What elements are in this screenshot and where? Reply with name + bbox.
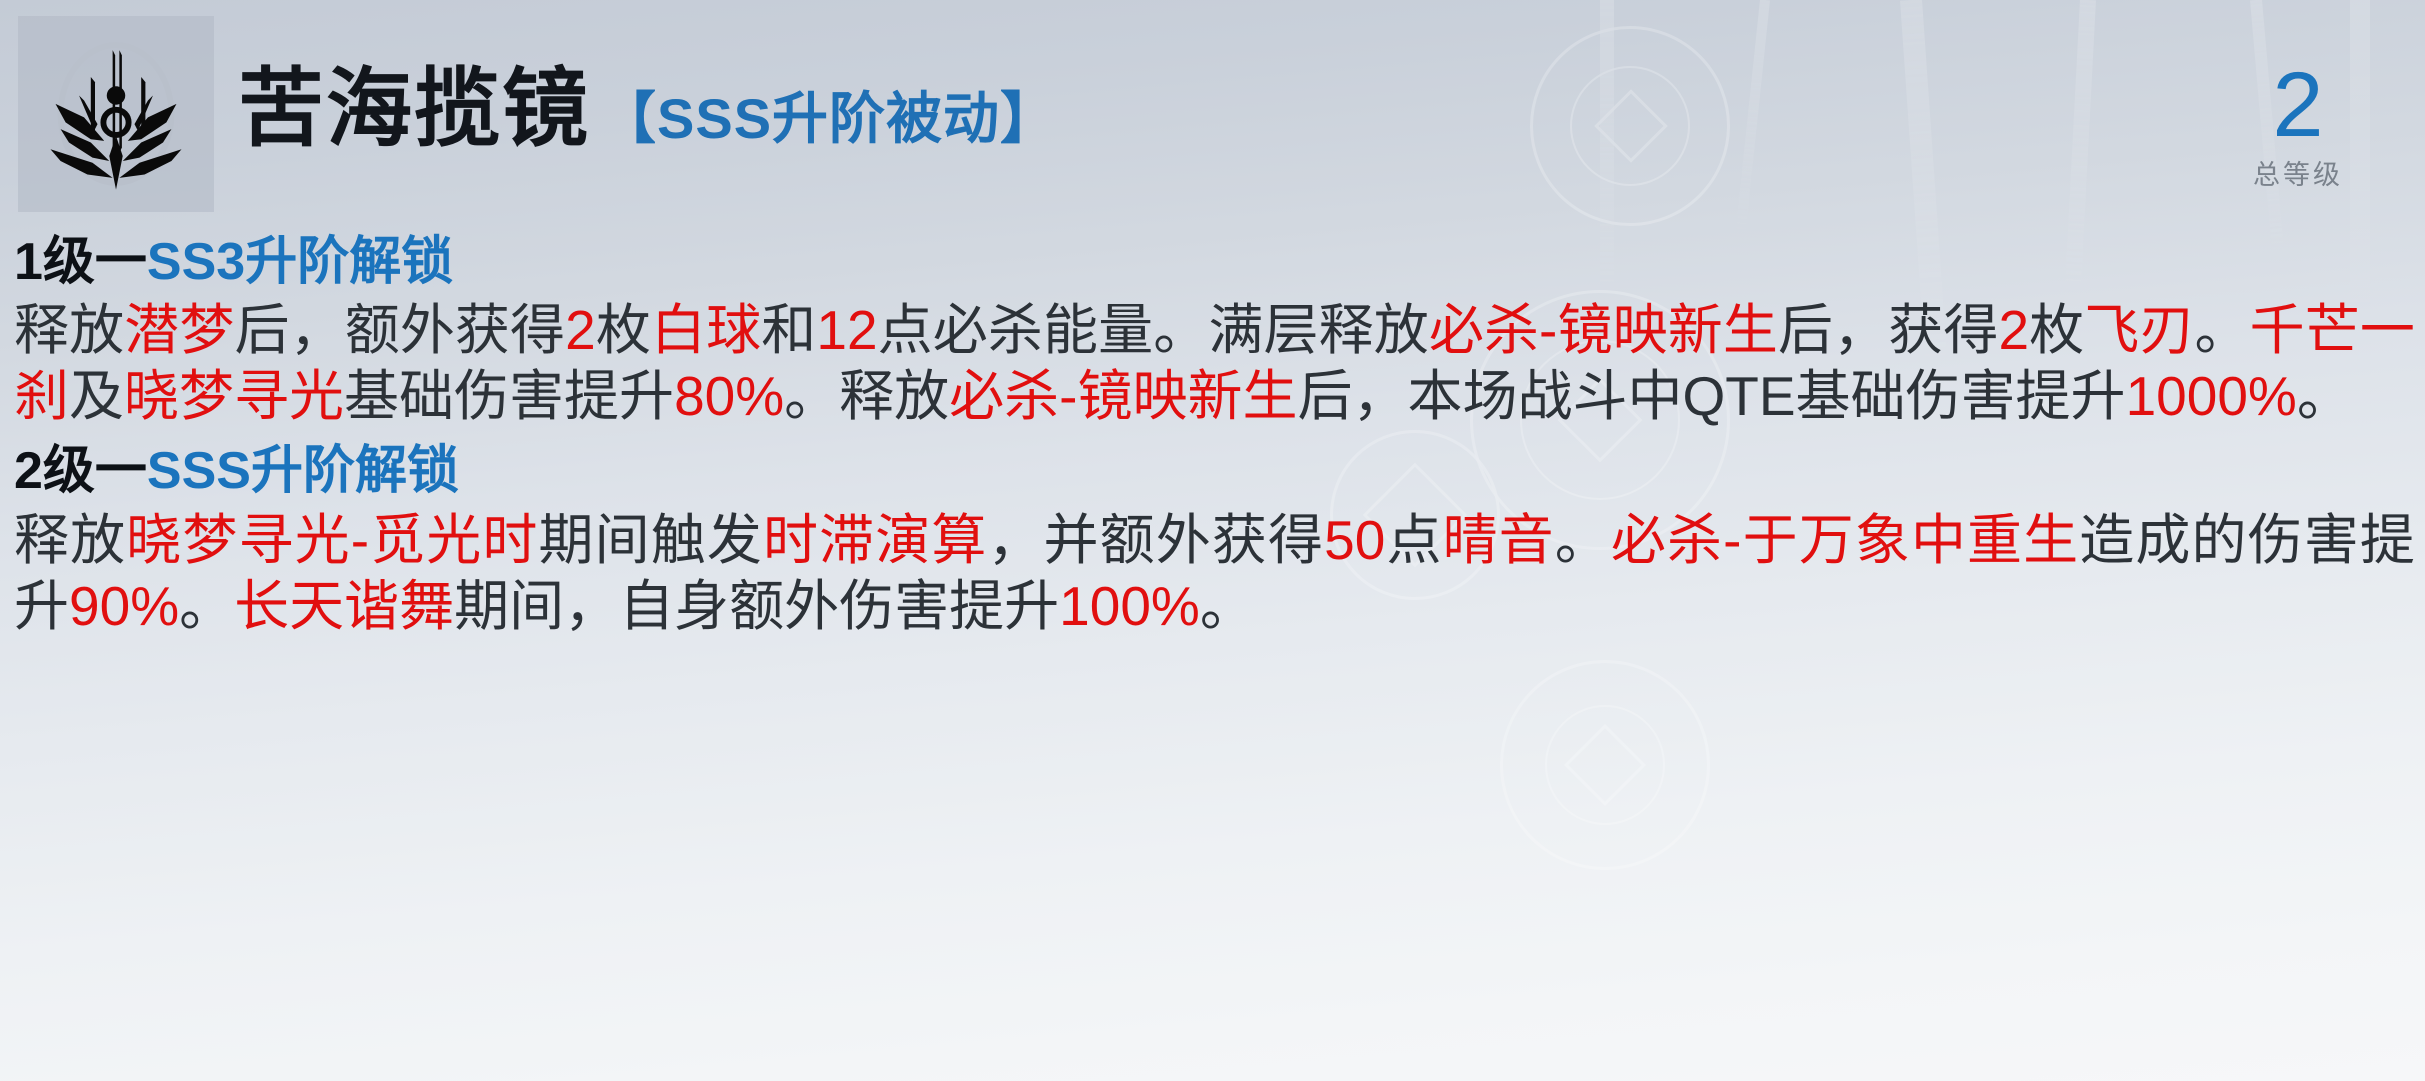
skill-detail-panel: 苦海揽镜 【SSS升阶被动】 2 总等级 1级一SS3升阶解锁 释放潜梦后，额外… (0, 0, 2425, 1081)
skill-subtitle-tag: 【SSS升阶被动】 (600, 91, 1057, 147)
highlight-term: 潜梦 (124, 299, 234, 361)
body-text: 后，额外获得 (234, 299, 565, 361)
body-text: 点 (1385, 509, 1442, 571)
skill-description-content: 1级一SS3升阶解锁 释放潜梦后，额外获得2枚白球和12点必杀能量。满层释放必杀… (14, 232, 2415, 639)
body-text: 释放 (14, 509, 126, 571)
highlight-term: 必杀-镜映新生 (1429, 299, 1778, 361)
body-text: 期间，自身额外伤害提升 (454, 575, 1059, 637)
section-2-body: 释放晓梦寻光-觅光时期间触发时滞演算，并额外获得50点晴音。必杀-于万象中重生造… (14, 507, 2415, 639)
highlight-term: 白球 (651, 299, 761, 361)
highlight-term: 90% (69, 575, 179, 637)
total-level-block: 2 总等级 (2203, 62, 2393, 192)
highlight-term: 1000% (2126, 365, 2297, 427)
body-text: 和 (761, 299, 816, 361)
highlight-term: 50 (1324, 509, 1385, 571)
highlight-term: 晓梦寻光-觅光时 (126, 509, 538, 571)
body-text: 基础伤害提升 (344, 365, 674, 427)
highlight-term: 2 (1998, 299, 2029, 361)
skill-title: 苦海揽镜 (238, 66, 590, 152)
highlight-term: 12 (816, 299, 877, 361)
highlight-term: 飞刃 (2084, 299, 2194, 361)
body-text: ，并额外获得 (987, 509, 1324, 571)
body-text: 后，本场战斗中QTE基础伤害提升 (1298, 365, 2126, 427)
highlight-term: 晴音 (1443, 509, 1555, 571)
body-text: 后，获得 (1778, 299, 1998, 361)
body-text: 枚 (596, 299, 651, 361)
body-text: 及 (69, 365, 124, 427)
section-2-level-label: 2级一 (14, 442, 147, 500)
skill-section-2: 2级一SSS升阶解锁 释放晓梦寻光-觅光时期间触发时滞演算，并额外获得50点晴音… (14, 441, 2415, 638)
total-level-caption: 总等级 (2203, 153, 2393, 192)
highlight-term: 80% (674, 365, 784, 427)
body-text: 。 (1555, 509, 1611, 571)
highlight-term: 长天谐舞 (234, 575, 454, 637)
title-row: 苦海揽镜 【SSS升阶被动】 (238, 66, 1057, 152)
body-text: 。 (179, 575, 234, 637)
section-1-level-label: 1级一 (14, 233, 147, 291)
section-2-heading: 2级一SSS升阶解锁 (14, 441, 2415, 502)
body-text: 期间触发 (539, 509, 763, 571)
body-text: 点必杀能量。满层释放 (878, 299, 1429, 361)
highlight-term: 100% (1059, 575, 1200, 637)
body-text: 释放 (14, 299, 124, 361)
section-1-heading: 1级一SS3升阶解锁 (14, 232, 2415, 293)
skill-section-1: 1级一SS3升阶解锁 释放潜梦后，额外获得2枚白球和12点必杀能量。满层释放必杀… (14, 232, 2415, 429)
body-text: 枚 (2029, 299, 2084, 361)
body-text: 。 (2297, 365, 2352, 427)
highlight-term: 必杀-于万象中重生 (1611, 509, 2079, 571)
body-text: 。 (2195, 299, 2250, 361)
section-2-unlock-label: SSS升阶解锁 (147, 442, 459, 500)
highlight-term: 时滞演算 (763, 509, 987, 571)
panel-header: 苦海揽镜 【SSS升阶被动】 2 总等级 (0, 0, 2425, 230)
highlight-term: 必杀-镜映新生 (949, 365, 1297, 427)
skill-emblem (18, 16, 214, 212)
total-level-value: 2 (2203, 62, 2393, 149)
body-text: 。 (1200, 575, 1255, 637)
highlight-term: 2 (565, 299, 596, 361)
body-text: 。释放 (784, 365, 949, 427)
winged-mirror-emblem-icon (32, 30, 200, 198)
section-1-unlock-label: SS3升阶解锁 (147, 233, 453, 291)
section-1-body: 释放潜梦后，额外获得2枚白球和12点必杀能量。满层释放必杀-镜映新生后，获得2枚… (14, 297, 2415, 429)
highlight-term: 晓梦寻光 (124, 365, 344, 427)
